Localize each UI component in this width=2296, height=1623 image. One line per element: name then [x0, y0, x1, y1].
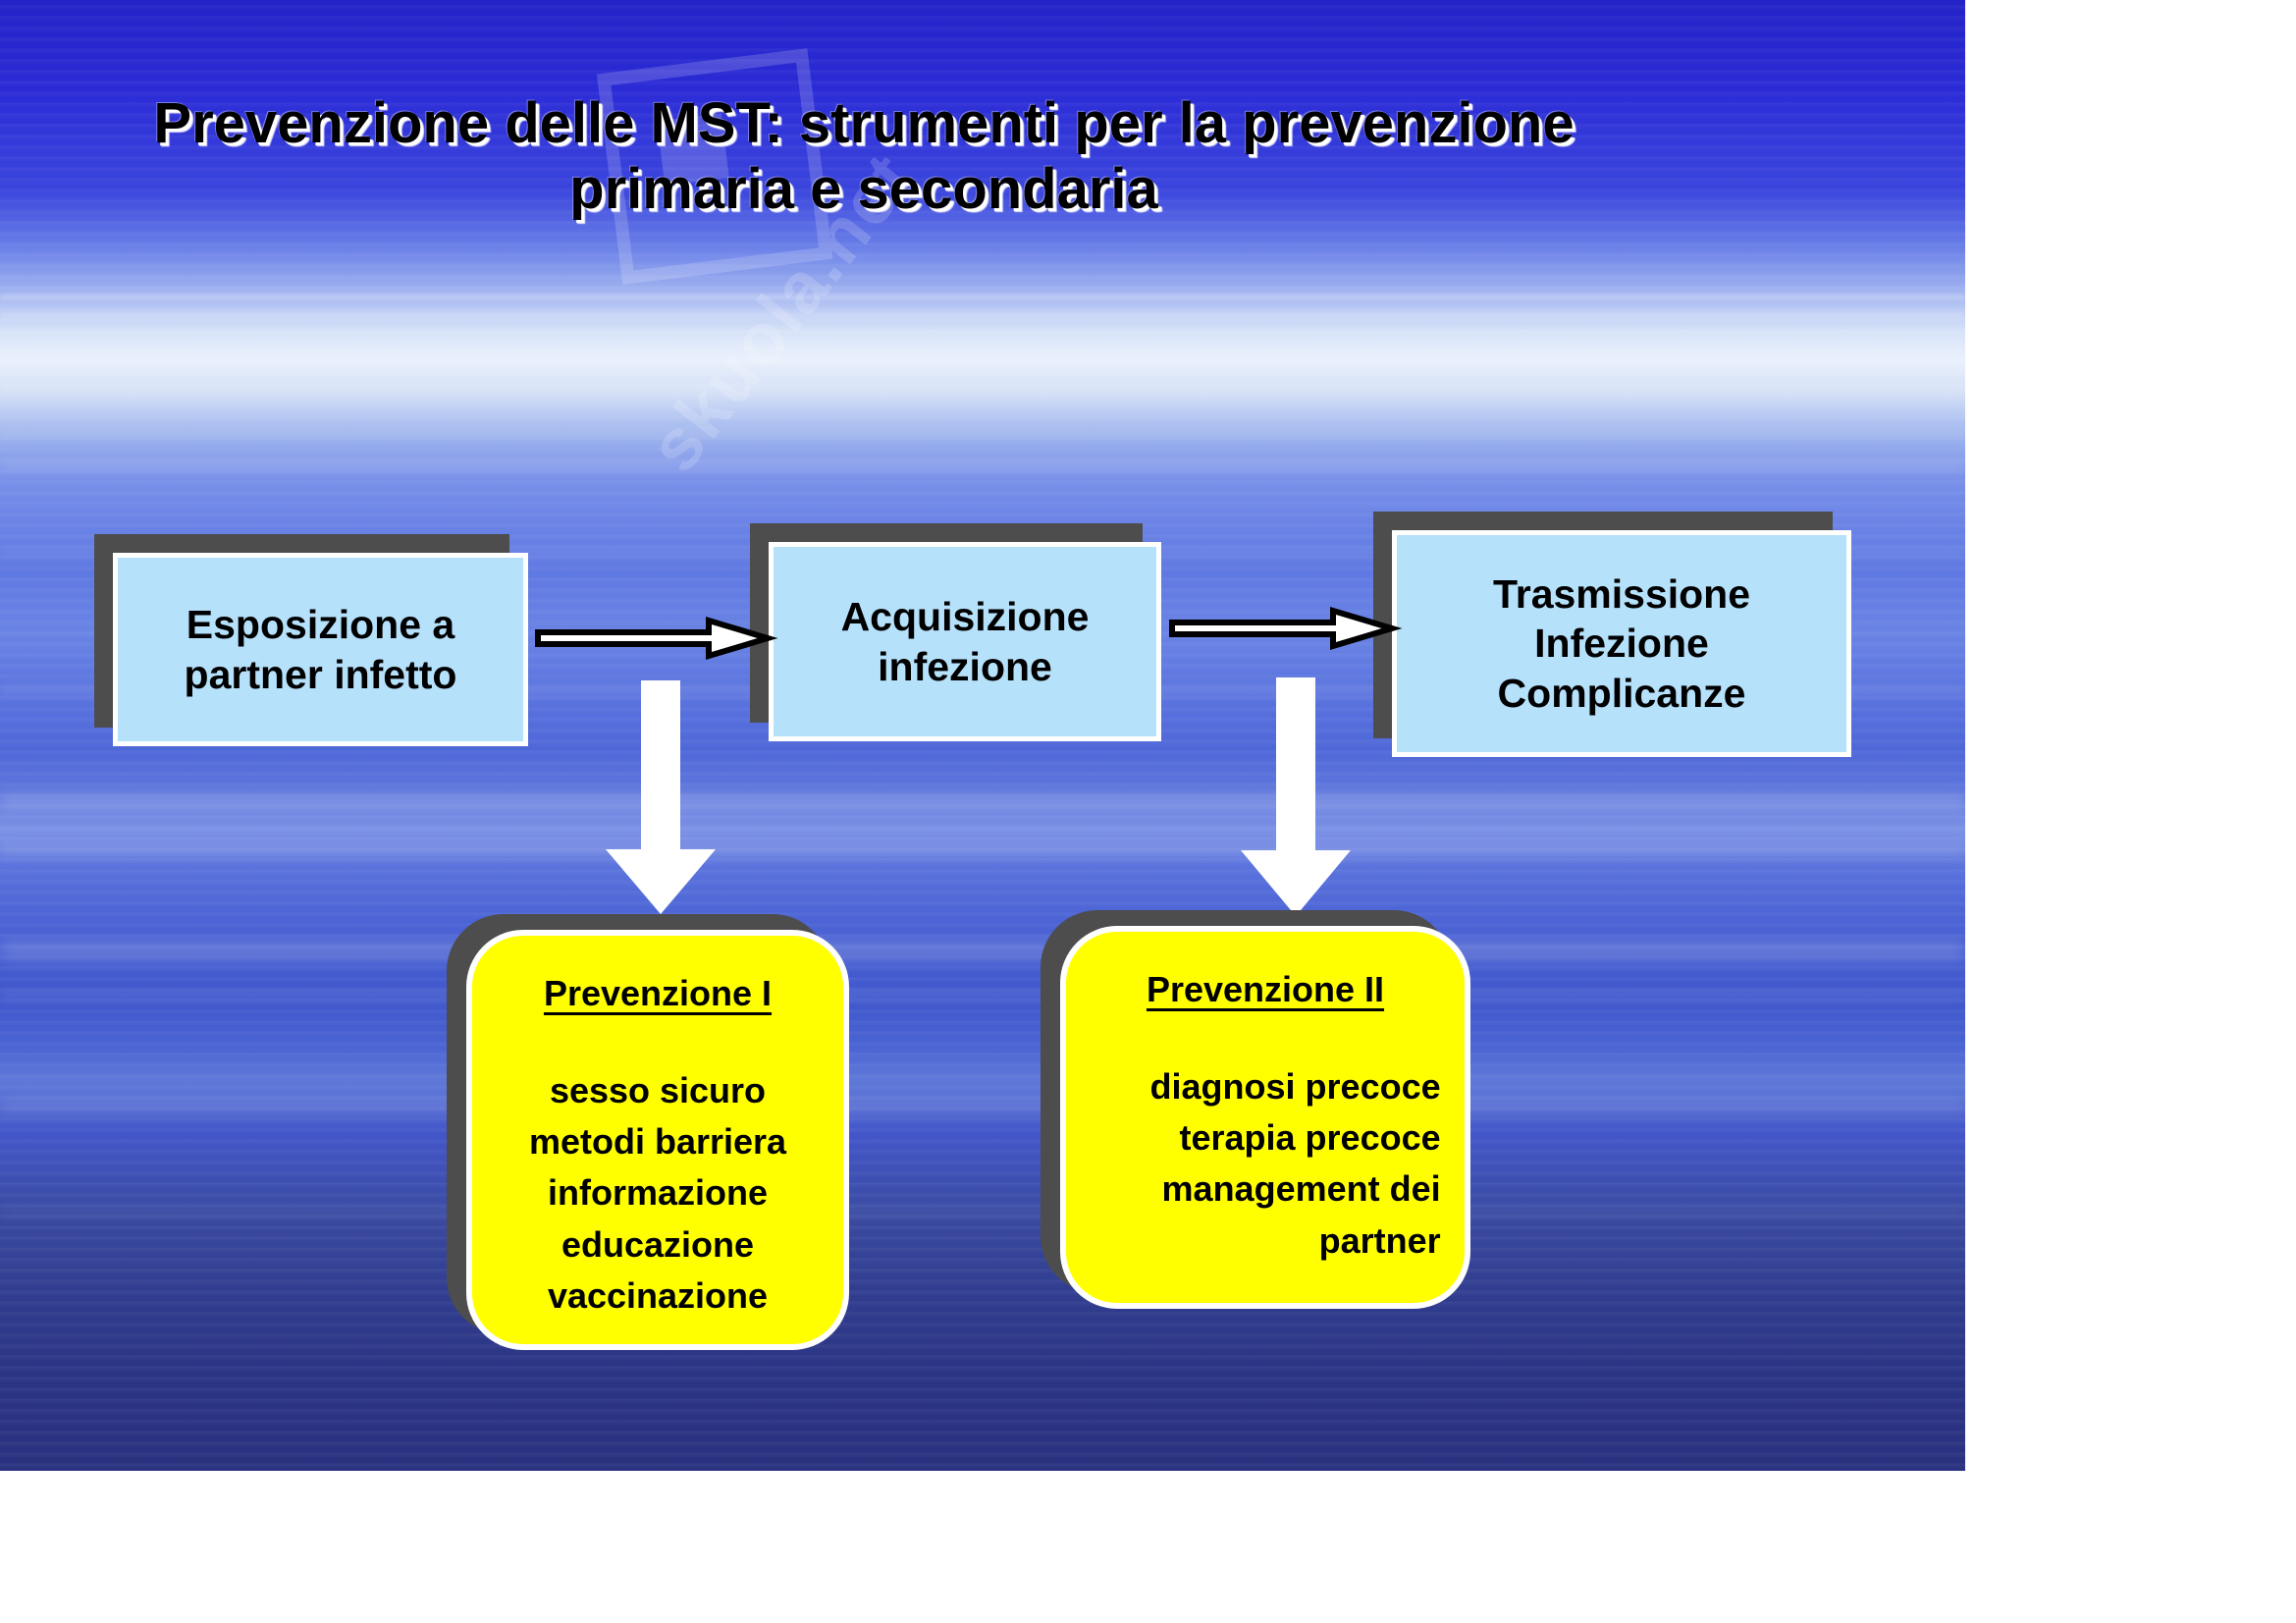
water-streak — [0, 1100, 1965, 1111]
node-esposizione[interactable]: Esposizione a partner infetto — [113, 553, 528, 746]
page-canvas: skuola.net Prevenzione delle MST: strume… — [0, 0, 2296, 1623]
node-body: Prevenzione I sesso sicuro metodi barrie… — [466, 930, 849, 1350]
water-streak — [0, 312, 1965, 318]
arrow-right-icon — [536, 617, 770, 660]
water-streak — [0, 385, 1965, 392]
water-streak — [0, 992, 1965, 1000]
connector-esposizione-to-acquisizione — [536, 617, 770, 660]
slide: skuola.net Prevenzione delle MST: strume… — [0, 0, 1965, 1471]
node-label: Trasmissione Infezione Complicanze — [1493, 569, 1750, 717]
block-arrow-down-icon — [1239, 677, 1353, 918]
connector-acquisizione-to-prevenzione-2 — [1239, 677, 1353, 918]
skuola-watermark: skuola.net — [462, 0, 1048, 514]
water-streak — [0, 943, 1965, 958]
node-prevenzione-1[interactable]: Prevenzione I sesso sicuro metodi barrie… — [466, 930, 849, 1350]
connector-acquisizione-to-trasmissione — [1170, 607, 1394, 650]
node-label: Acquisizione infezione — [841, 592, 1090, 690]
node-trasmissione[interactable]: Trasmissione Infezione Complicanze — [1392, 530, 1851, 757]
arrow-right-icon — [1170, 607, 1394, 650]
node-body: Prevenzione II diagnosi precoce terapia … — [1060, 926, 1470, 1309]
prevention-heading: Prevenzione II — [1147, 969, 1384, 1010]
connector-esposizione-to-prevenzione-1 — [604, 680, 718, 916]
water-streak — [0, 844, 1965, 854]
prevention-items: diagnosi precoce terapia precoce managem… — [1090, 1061, 1440, 1267]
node-body: Esposizione a partner infetto — [113, 553, 528, 746]
node-body: Trasmissione Infezione Complicanze — [1392, 530, 1851, 757]
water-streak — [0, 346, 1965, 351]
prevention-items: sesso sicuro metodi barriera informazion… — [529, 1065, 786, 1322]
node-prevenzione-2[interactable]: Prevenzione II diagnosi precoce terapia … — [1060, 926, 1470, 1309]
node-body: Acquisizione infezione — [769, 542, 1161, 741]
node-label: Esposizione a partner infetto — [185, 600, 457, 698]
water-streak — [0, 432, 1965, 437]
block-arrow-down-icon — [604, 680, 718, 916]
node-acquisizione[interactable]: Acquisizione infezione — [769, 542, 1161, 741]
page-title: Prevenzione delle MST: strumenti per la … — [69, 90, 1659, 223]
water-streak — [0, 461, 1965, 470]
water-streak — [0, 795, 1965, 809]
water-streak — [0, 295, 1965, 298]
water-streak — [0, 1208, 1965, 1216]
prevention-heading: Prevenzione I — [544, 973, 772, 1014]
